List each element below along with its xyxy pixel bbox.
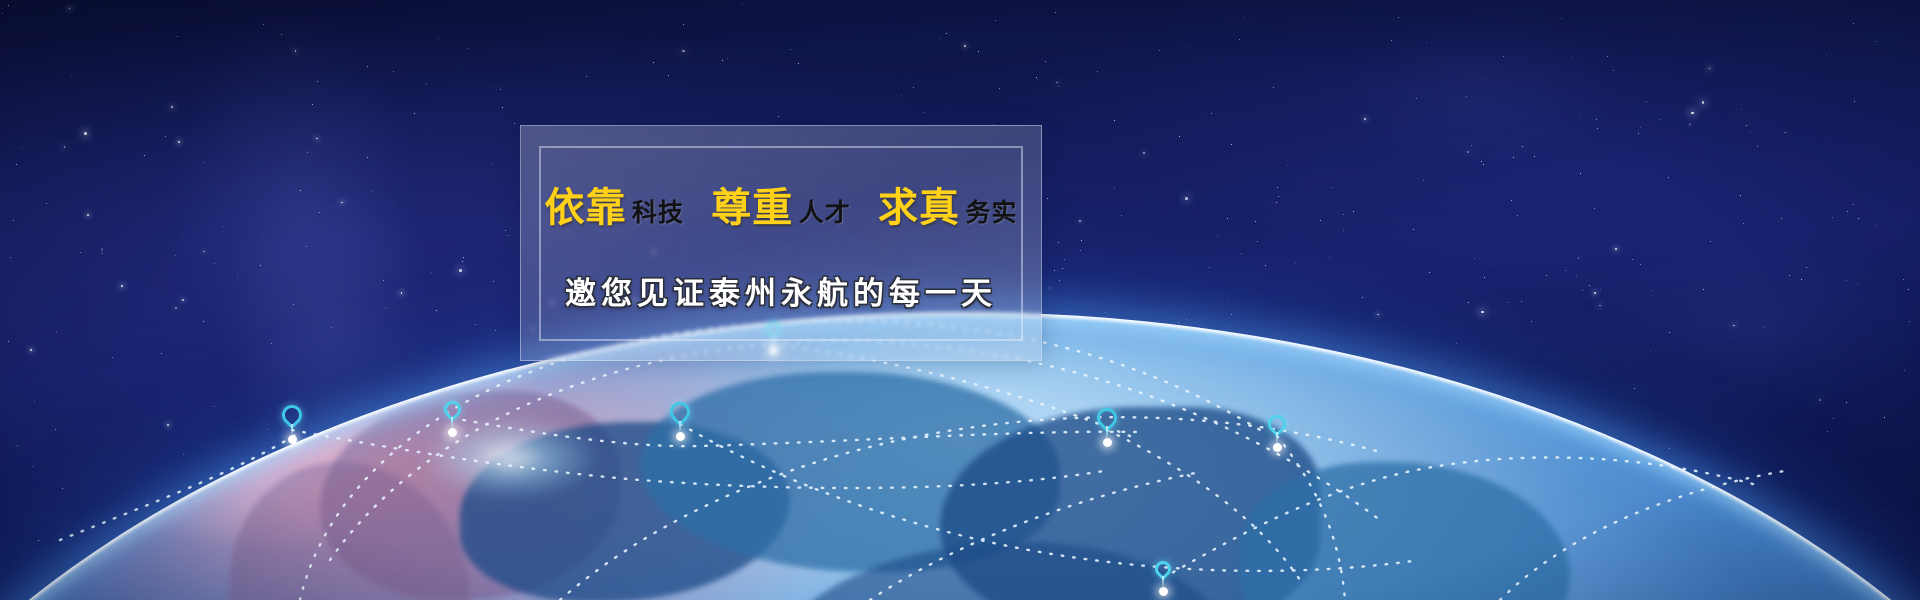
banner-hero: 依靠 科技 尊重 人才 求真 务实 邀您见证泰州永航的每一天 — [0, 0, 1920, 600]
vignette-overlay — [0, 0, 1920, 600]
